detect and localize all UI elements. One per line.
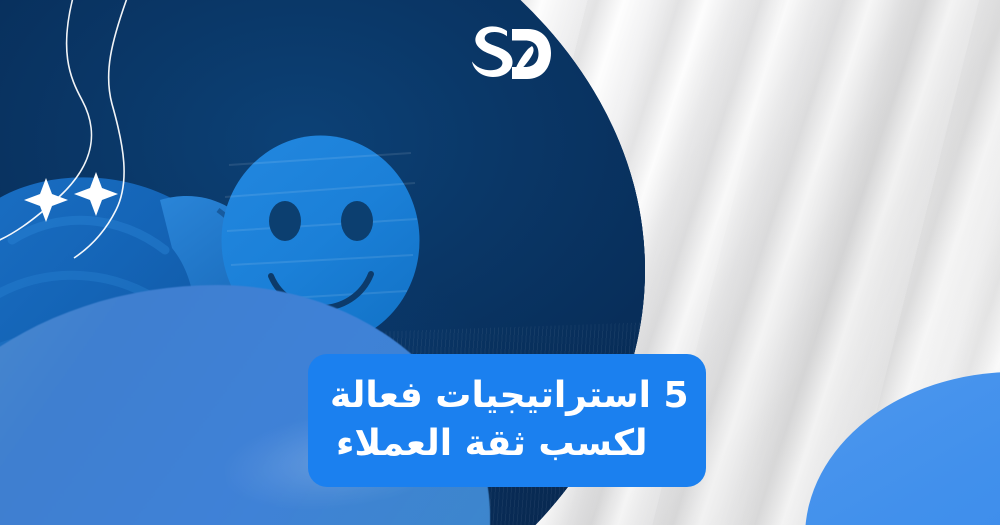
bottom-right-blue-circle bbox=[805, 372, 1000, 525]
headline-line-2: لكسب ثقة العملاء bbox=[330, 420, 648, 468]
social-media-banner: 5 استراتيجيات فعالة لكسب ثقة العملاء bbox=[0, 0, 1000, 525]
sparkle-lines-decoration-bottom-right bbox=[805, 372, 1000, 525]
sd-monogram-logo[interactable] bbox=[466, 19, 554, 93]
headline-line-1: 5 استراتيجيات فعالة bbox=[330, 372, 689, 420]
headline-box: 5 استراتيجيات فعالة لكسب ثقة العملاء bbox=[308, 354, 706, 487]
